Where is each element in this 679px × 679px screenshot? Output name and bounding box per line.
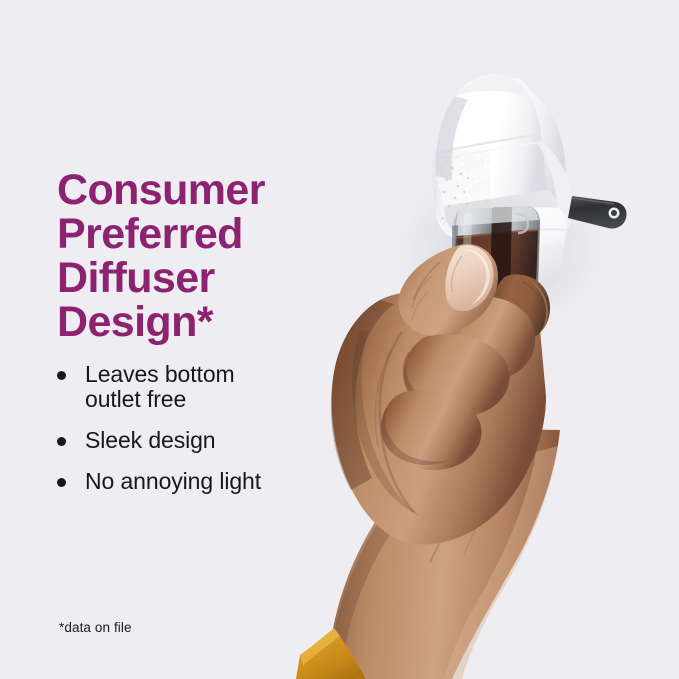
bullet-dot-icon — [57, 371, 66, 380]
svg-text:Zone: Zone — [518, 256, 546, 273]
product-shadow — [380, 155, 620, 345]
diffuser-shoulder — [536, 140, 574, 238]
bullet-dot-icon — [57, 478, 66, 487]
hand-shade — [352, 330, 420, 516]
list-item-label: No annoying light — [85, 469, 261, 494]
fingers — [381, 244, 550, 470]
feature-list: Leaves bottom outlet free Sleek design N… — [57, 362, 357, 510]
list-item: Sleek design — [57, 428, 357, 453]
diffuser-vent-texture — [430, 150, 490, 240]
diffuser-vent-dots — [442, 167, 469, 220]
palm — [331, 289, 546, 544]
product-marketing-image: Comfort Zone — [0, 0, 679, 679]
page-title: Consumer Preferred Diffuser Design* — [57, 168, 357, 344]
plug-prong — [568, 196, 627, 229]
brand-logo-embossed: Comfort Zone — [518, 241, 563, 273]
svg-text:Comfort: Comfort — [518, 241, 563, 261]
thumbnail — [445, 245, 493, 311]
finger-index — [489, 275, 550, 343]
finger-middle — [437, 296, 535, 381]
scent-diffuser-device: Comfort Zone — [430, 74, 627, 302]
finger-ring — [404, 334, 510, 417]
sleeve-cuff — [296, 628, 366, 679]
diffuser-cap — [436, 74, 548, 206]
finger-pinky — [381, 390, 481, 470]
forearm — [327, 428, 560, 679]
list-item-label: Leaves bottom outlet free — [85, 362, 235, 412]
footnote: *data on file — [59, 620, 132, 635]
list-item: No annoying light — [57, 469, 357, 494]
list-item-label: Sleek design — [85, 428, 216, 453]
list-item: Leaves bottom outlet free — [57, 362, 357, 412]
bullet-dot-icon — [57, 437, 66, 446]
diffuser-body — [436, 82, 566, 240]
diffuser-base — [497, 207, 566, 290]
refill-bottle — [452, 206, 540, 302]
thumb — [399, 244, 498, 335]
